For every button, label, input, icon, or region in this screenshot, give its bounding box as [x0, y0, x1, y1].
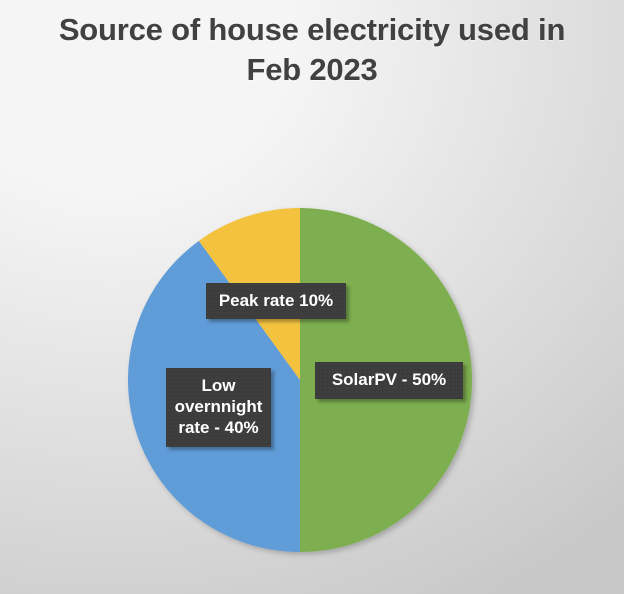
pie-label-low-overnight-rate: Low overnnight rate - 40%: [166, 368, 271, 447]
chart-title: Source of house electricity used in Feb …: [0, 10, 624, 91]
pie-chart-figure: Source of house electricity used in Feb …: [0, 0, 624, 594]
pie-label-peak-rate: Peak rate 10%: [206, 283, 346, 319]
pie-label-solarpv: SolarPV - 50%: [315, 362, 463, 399]
